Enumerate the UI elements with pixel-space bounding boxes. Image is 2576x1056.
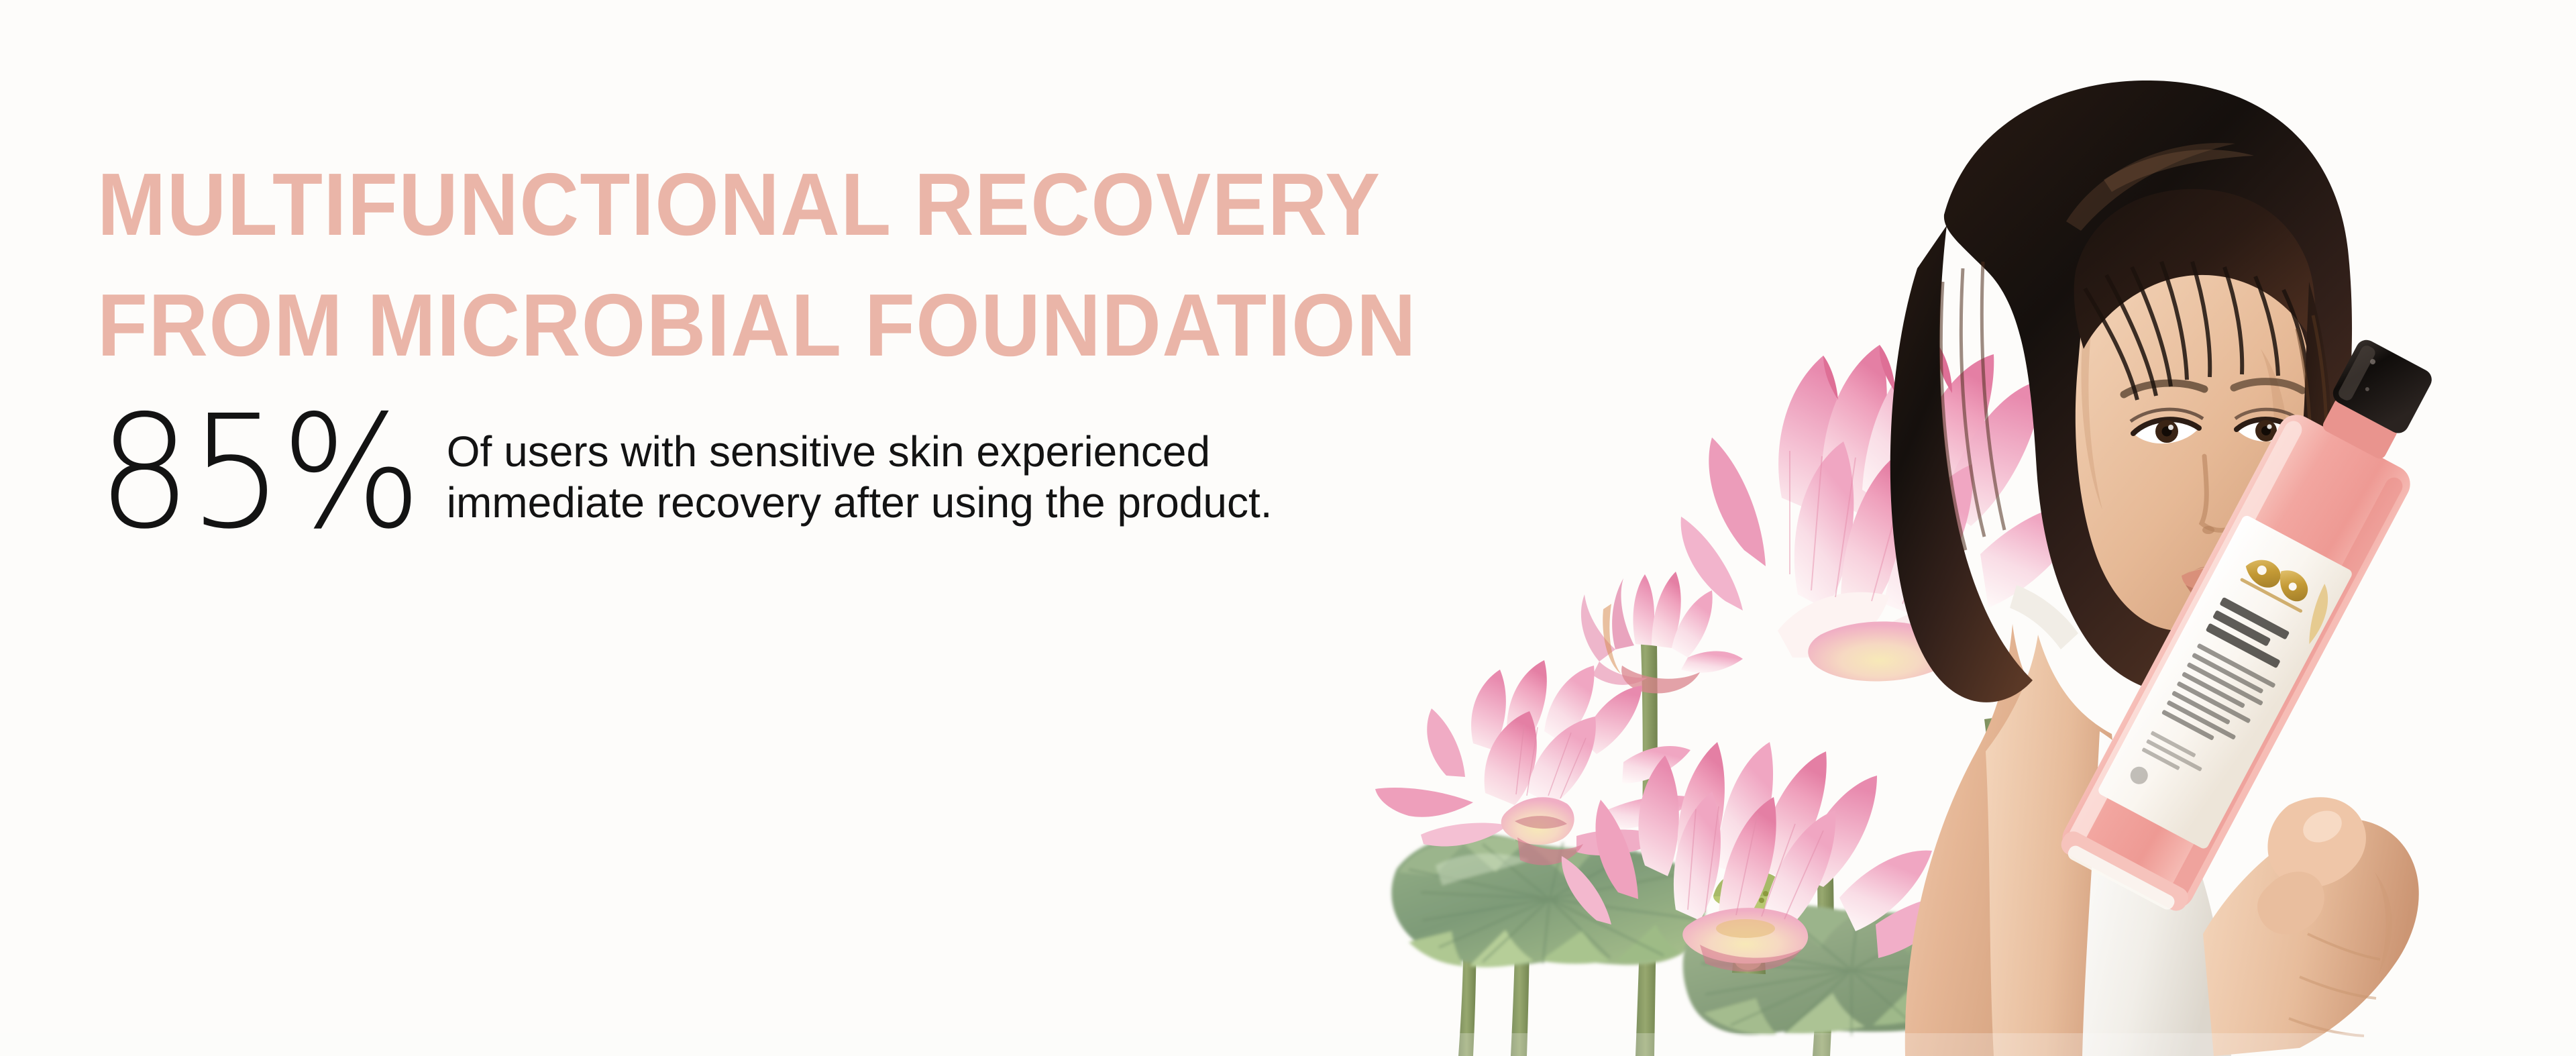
stat-percentage: 85% bbox=[97, 407, 419, 537]
stat-description-line-1: Of users with sensitive skin experienced bbox=[447, 426, 1273, 477]
skincare-promo-banner: MULTIFUNCTIONAL RECOVERY FROM MICROBIAL … bbox=[0, 0, 2576, 1056]
banner-copy: MULTIFUNCTIONAL RECOVERY FROM MICROBIAL … bbox=[97, 144, 1640, 386]
stat-description-line-2: immediate recovery after using the produ… bbox=[447, 477, 1273, 528]
lotus-bud-small bbox=[1581, 572, 1743, 694]
lotus-seed-pod bbox=[1713, 871, 1788, 974]
lotus-flowers-illustration bbox=[1375, 344, 2090, 1056]
stat-description: Of users with sensitive skin experienced… bbox=[447, 426, 1273, 528]
product-bottle bbox=[2054, 322, 2463, 918]
headline-line-2: FROM MICROBIAL FOUNDATION bbox=[97, 265, 1532, 386]
model-hand bbox=[2203, 797, 2419, 1056]
stat-row: 85% Of users with sensitive skin experie… bbox=[97, 407, 1273, 535]
lotus-stems bbox=[1458, 643, 2025, 1056]
lotus-leaf-large bbox=[1391, 834, 1705, 967]
lotus-bloom-center bbox=[1562, 742, 1963, 971]
model-photo bbox=[1890, 81, 2352, 1056]
model-eyes bbox=[2124, 382, 2302, 443]
model-lips bbox=[2182, 565, 2266, 602]
lotus-leaf-secondary bbox=[1683, 904, 1992, 1036]
lotus-bloom-large bbox=[1681, 344, 2090, 681]
headline-line-1: MULTIFUNCTIONAL RECOVERY bbox=[97, 144, 1532, 265]
lotus-bloom-left bbox=[1375, 660, 1696, 865]
